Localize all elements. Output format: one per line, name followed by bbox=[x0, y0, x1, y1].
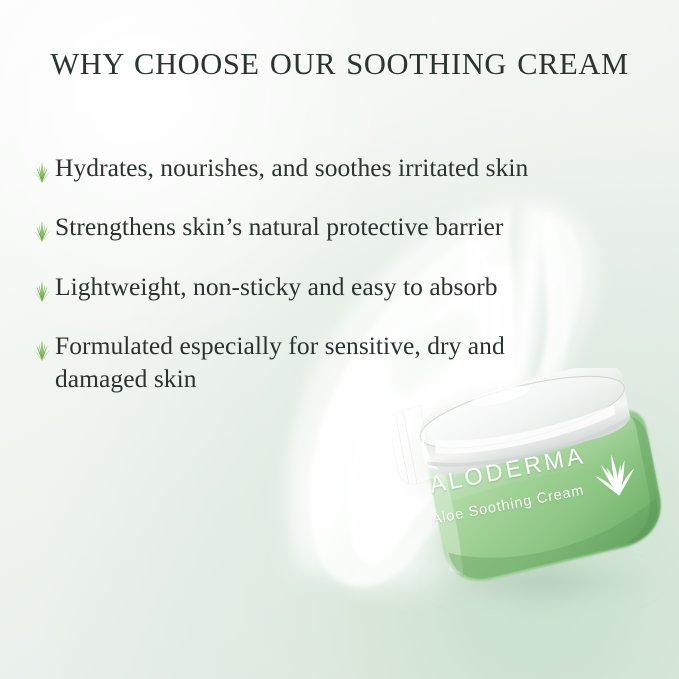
aloe-sprig-icon bbox=[32, 336, 52, 362]
benefit-item: Hydrates, nourishes, and soothes irritat… bbox=[32, 152, 552, 184]
product-brand-name: ALODERMA bbox=[427, 442, 588, 499]
aloe-sprig-icon bbox=[32, 277, 52, 303]
page-title: WHY CHOOSE OUR SOOTHING CREAM bbox=[0, 47, 679, 82]
jar-shadow bbox=[424, 556, 660, 608]
background-highlight-bottom-right bbox=[339, 409, 679, 679]
benefit-text: Lightweight, non-sticky and easy to abso… bbox=[55, 271, 498, 303]
benefits-list: Hydrates, nourishes, and soothes irritat… bbox=[32, 152, 552, 422]
benefit-text: Hydrates, nourishes, and soothes irritat… bbox=[55, 152, 528, 184]
benefit-item: Strengthens skin’s natural protective ba… bbox=[32, 211, 552, 243]
product-benefits-poster: WHY CHOOSE OUR SOOTHING CREAM Hydrates, … bbox=[0, 0, 679, 679]
jar-body bbox=[425, 407, 670, 587]
aloe-sprig-icon bbox=[32, 158, 52, 184]
aloe-sprig-icon bbox=[32, 217, 52, 243]
benefit-text: Formulated especially for sensitive, dry… bbox=[55, 330, 552, 395]
aloe-plant-icon bbox=[586, 446, 644, 503]
benefit-item: Formulated especially for sensitive, dry… bbox=[32, 330, 552, 395]
benefit-item: Lightweight, non-sticky and easy to abso… bbox=[32, 271, 552, 303]
benefit-text: Strengthens skin’s natural protective ba… bbox=[55, 211, 503, 243]
product-name-label: Aloe Soothing Cream bbox=[430, 483, 585, 528]
